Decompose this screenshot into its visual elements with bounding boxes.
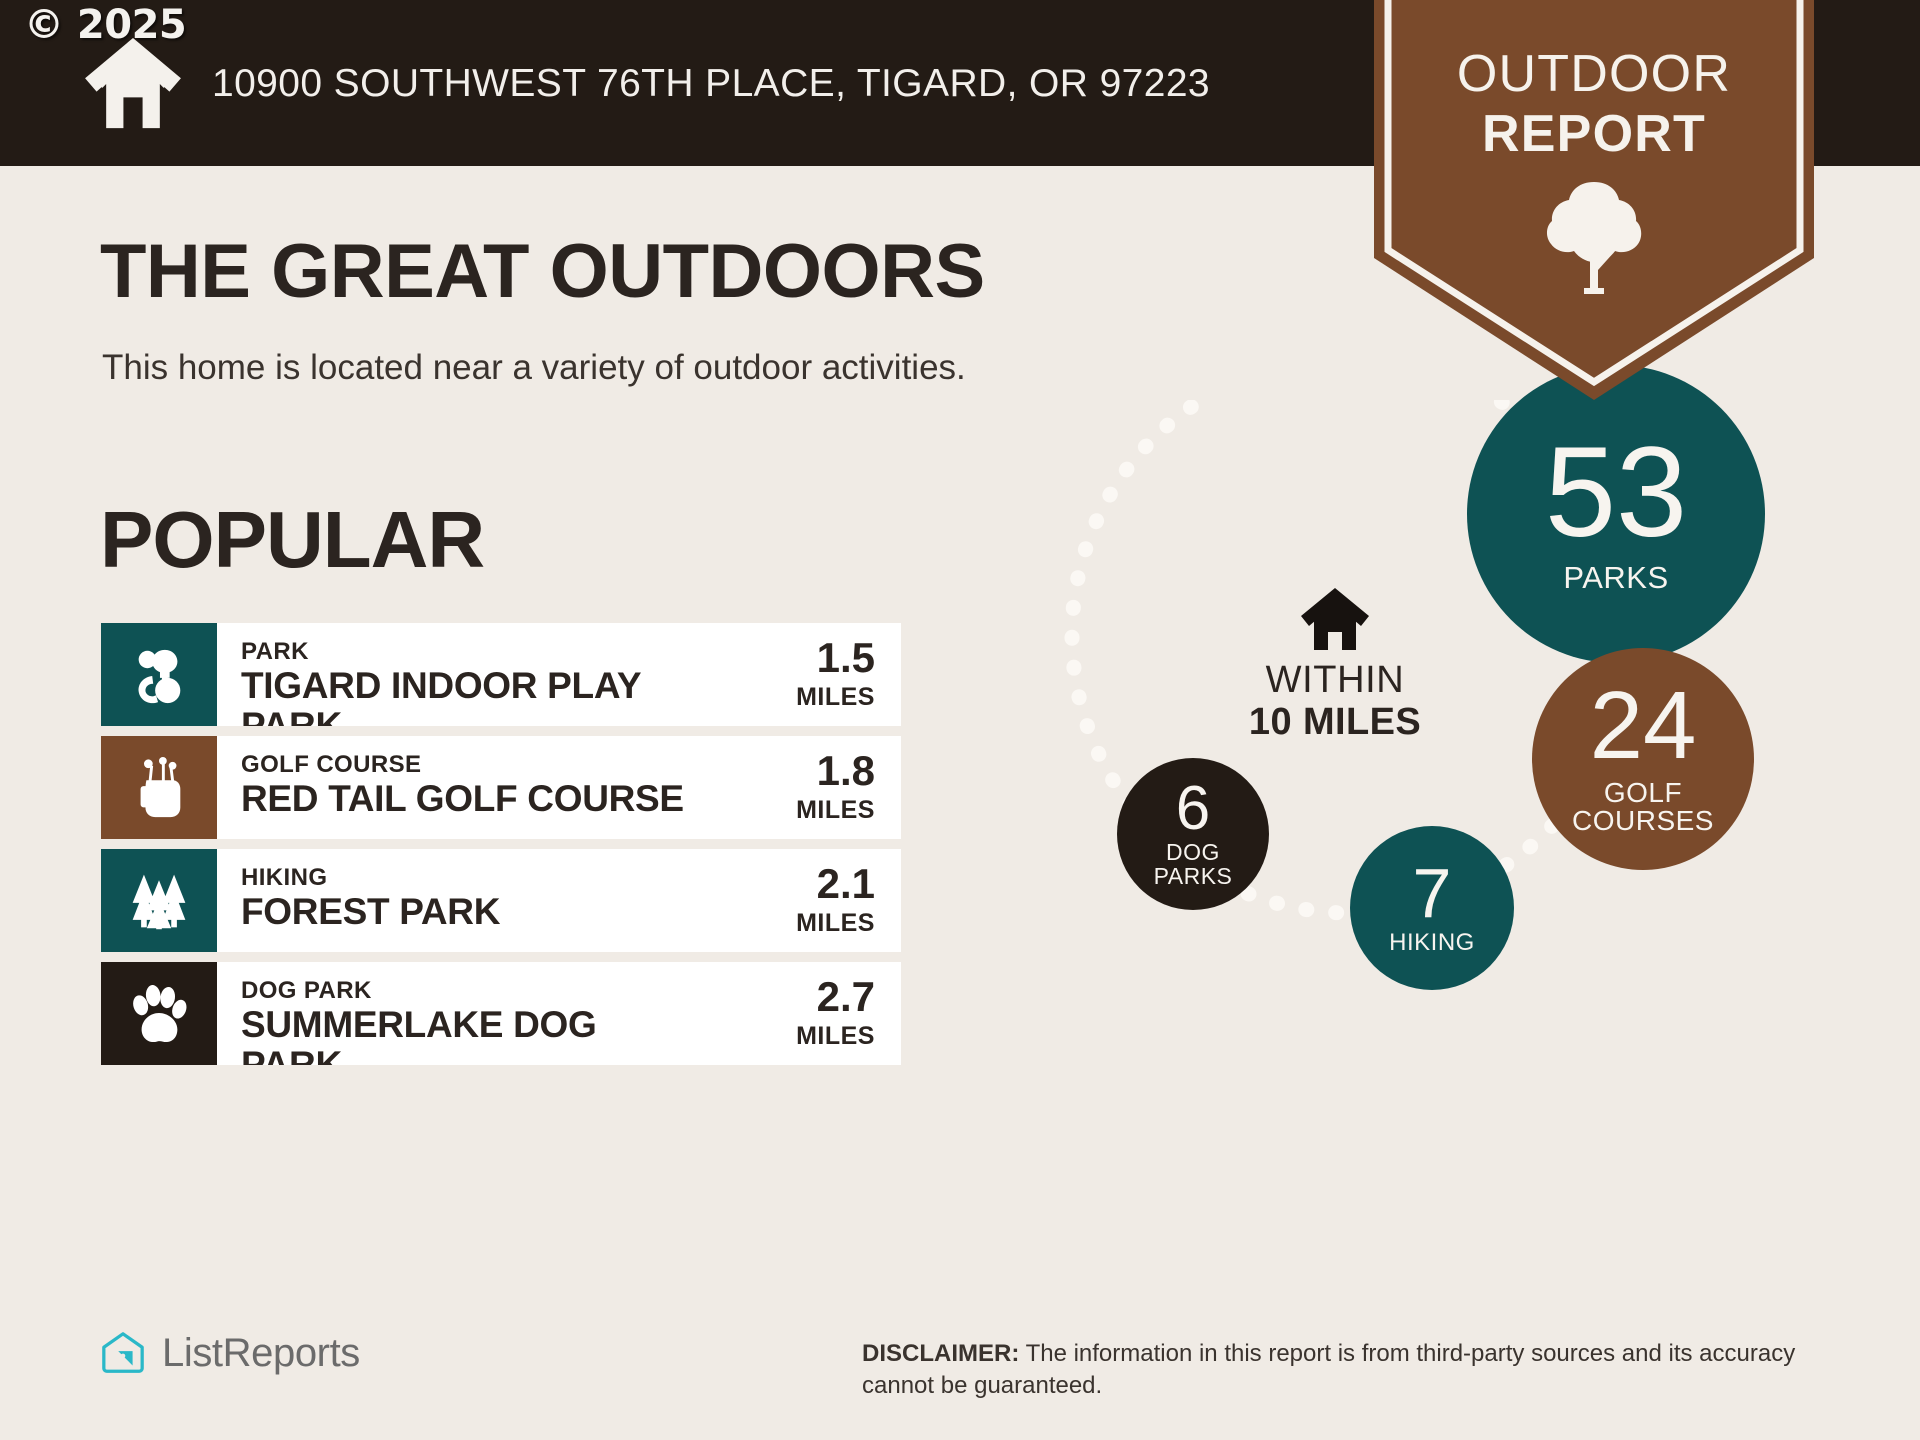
- center-line1: WITHIN: [1190, 660, 1480, 702]
- bubble-label: HIKING: [1389, 931, 1475, 955]
- list-item[interactable]: DOG PARK SUMMERLAKE DOG PARK 2.7 MILES: [101, 962, 901, 1065]
- list-item-name: TIGARD INDOOR PLAY PARK: [241, 666, 701, 726]
- distance-value: 1.5: [771, 637, 875, 679]
- distance-value: 2.1: [771, 863, 875, 905]
- bubble-label-line2: PARKS: [1154, 865, 1233, 888]
- bubble-label-line1: GOLF: [1572, 779, 1714, 808]
- bubble-value: 7: [1413, 861, 1452, 925]
- bubble-hiking: 7 HIKING: [1350, 826, 1514, 990]
- disclaimer-label: DISCLAIMER:: [862, 1340, 1019, 1367]
- popular-list: PARK TIGARD INDOOR PLAY PARK 1.5 MILES G…: [101, 623, 901, 1075]
- list-item[interactable]: PARK TIGARD INDOOR PLAY PARK 1.5 MILES: [101, 623, 901, 726]
- diagram-center: WITHIN 10 MILES: [1190, 588, 1480, 744]
- list-item-category: HIKING: [241, 865, 771, 890]
- bubble-value: 53: [1545, 434, 1687, 552]
- bubble-label: GOLF COURSES: [1572, 779, 1714, 836]
- popular-heading: POPULAR: [100, 500, 484, 580]
- bubble-label: DOG PARKS: [1154, 841, 1233, 888]
- bubble-value: 6: [1176, 780, 1210, 837]
- list-item-name: SUMMERLAKE DOG PARK: [241, 1005, 701, 1065]
- distance-unit: MILES: [771, 796, 875, 825]
- property-address: 10900 SOUTHWEST 76TH PLACE, TIGARD, OR 9…: [212, 62, 1210, 106]
- amenities-bubble-diagram: 53 PARKS 24 GOLF COURSES 7 HIKING 6 DOG …: [1020, 400, 1780, 1080]
- distance-unit: MILES: [771, 909, 875, 938]
- list-item-distance: 1.8 MILES: [771, 736, 901, 839]
- list-item[interactable]: GOLF COURSE RED TAIL GOLF COURSE 1.8 MIL…: [101, 736, 901, 839]
- distance-unit: MILES: [771, 1022, 875, 1051]
- badge-line2: REPORT: [1374, 108, 1814, 160]
- distance-value: 1.8: [771, 750, 875, 792]
- list-item-category: GOLF COURSE: [241, 752, 771, 777]
- center-line2: 10 MILES: [1190, 702, 1480, 744]
- bubble-value: 24: [1590, 682, 1697, 770]
- bubble-label: PARKS: [1563, 562, 1668, 594]
- list-item-distance: 2.1 MILES: [771, 849, 901, 952]
- distance-value: 2.7: [771, 976, 875, 1018]
- list-item-distance: 1.5 MILES: [771, 623, 901, 726]
- golf-bag-icon: [101, 736, 217, 839]
- list-item-category: DOG PARK: [241, 978, 771, 1003]
- list-item-name: RED TAIL GOLF COURSE: [241, 779, 701, 819]
- bubble-dog-parks: 6 DOG PARKS: [1117, 758, 1269, 910]
- page-subtitle: This home is located near a variety of o…: [102, 348, 966, 388]
- bubble-golf-courses: 24 GOLF COURSES: [1532, 648, 1754, 870]
- bubble-label-line1: DOG: [1154, 841, 1233, 864]
- list-item-category: PARK: [241, 639, 771, 664]
- distance-unit: MILES: [771, 683, 875, 712]
- house-icon: [1301, 588, 1369, 650]
- park-trees-icon: [101, 623, 217, 726]
- list-item-name: FOREST PARK: [241, 892, 701, 932]
- disclaimer: DISCLAIMER: The information in this repo…: [862, 1338, 1834, 1402]
- tree-icon: [1544, 178, 1644, 296]
- list-item-distance: 2.7 MILES: [771, 962, 901, 1065]
- bubble-label-line2: COURSES: [1572, 807, 1714, 836]
- listreports-logo[interactable]: ListReports: [100, 1330, 360, 1376]
- copyright-watermark: © 2025: [24, 2, 186, 48]
- house-icon: [85, 38, 181, 130]
- list-item[interactable]: HIKING FOREST PARK 2.1 MILES: [101, 849, 901, 952]
- listreports-house-tag-icon: [100, 1330, 146, 1376]
- listreports-wordmark: ListReports: [162, 1331, 360, 1376]
- pine-trees-icon: [101, 849, 217, 952]
- page-title: THE GREAT OUTDOORS: [100, 234, 985, 310]
- paw-print-icon: [101, 962, 217, 1065]
- bubble-parks: 53 PARKS: [1467, 365, 1765, 663]
- badge-line1: OUTDOOR: [1374, 48, 1814, 100]
- outdoor-report-badge: OUTDOOR REPORT: [1374, 0, 1814, 400]
